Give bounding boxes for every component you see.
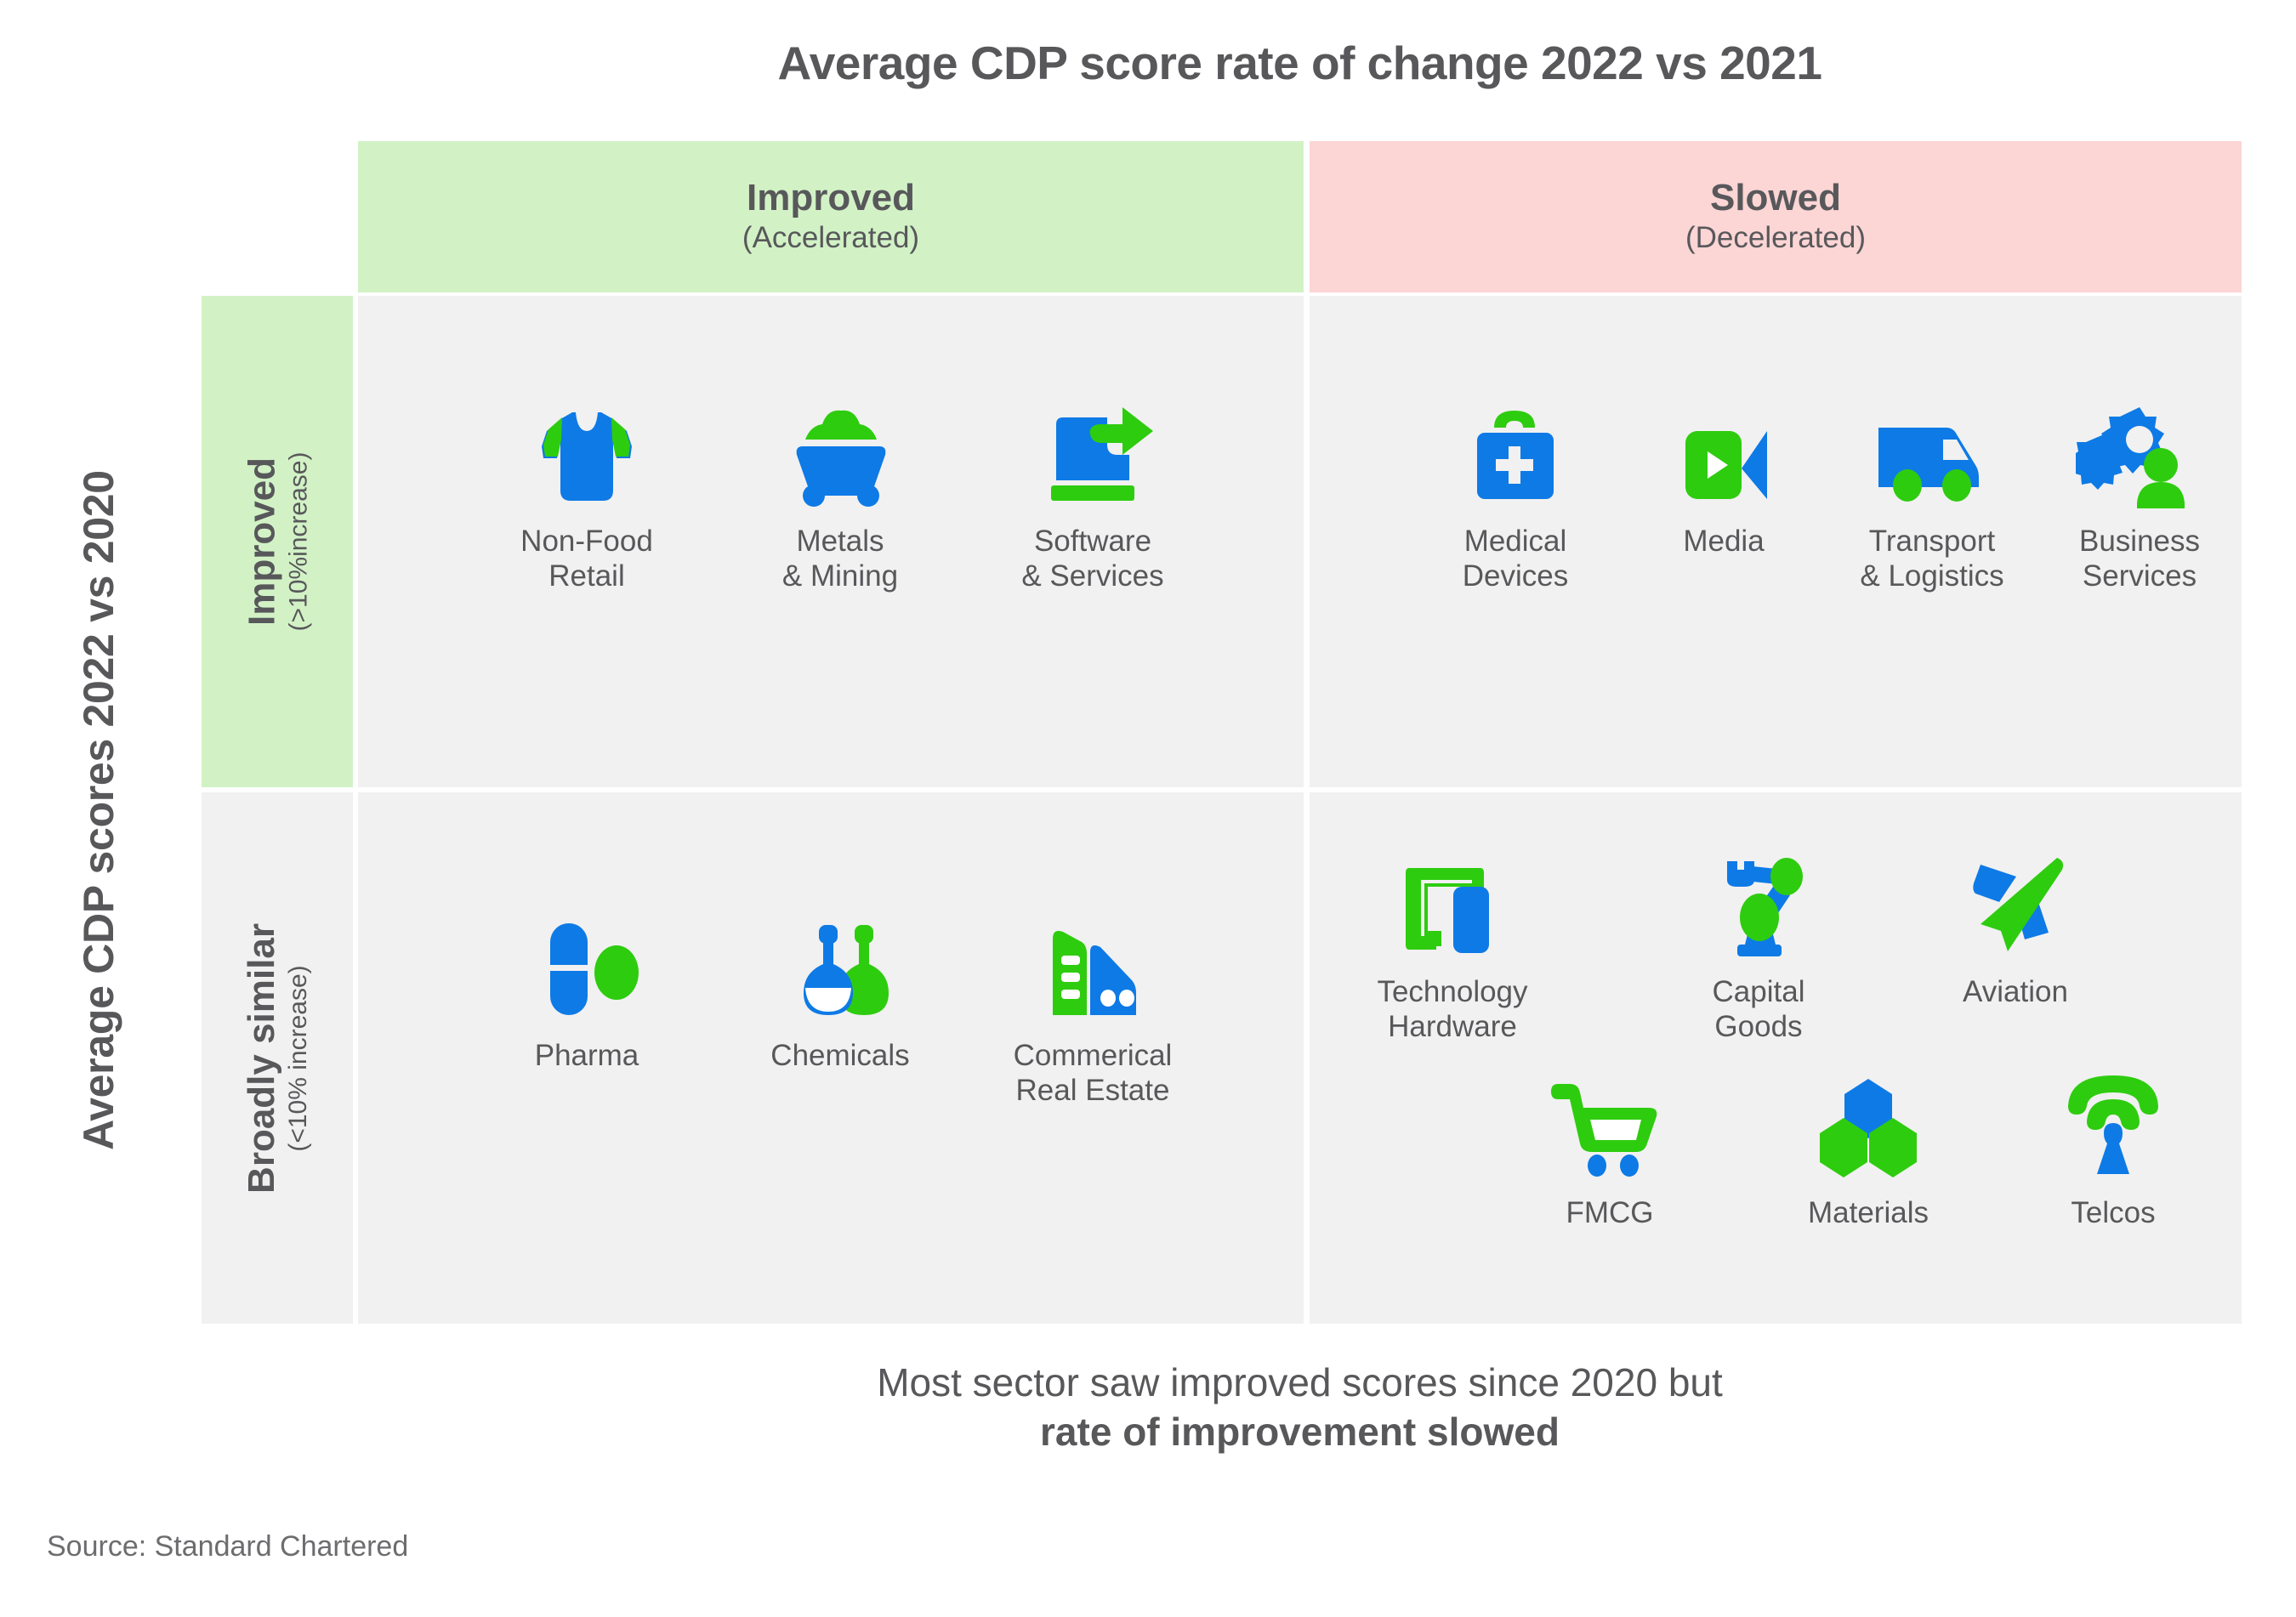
sector-transport-logistics[interactable]: Transport & Logistics	[1834, 400, 2030, 594]
sector-medical-devices[interactable]: Medical Devices	[1418, 400, 1613, 594]
pill-capsule-icon	[523, 914, 651, 1023]
sector-label: Metals & Mining	[782, 524, 898, 594]
sector-label: Software & Services	[1021, 524, 1163, 594]
row-header-improved-sub: (>10%increase)	[286, 452, 311, 632]
sector-label: Pharma	[535, 1038, 639, 1073]
medical-kit-icon	[1452, 400, 1579, 508]
row-header-broadly-similar-sub: (<10% increase)	[286, 923, 311, 1194]
sector-telcos[interactable]: Telcos	[2015, 1071, 2211, 1230]
source-note: Source: Standard Chartered	[47, 1530, 408, 1563]
signal-tower-icon	[2049, 1071, 2177, 1180]
mining-cart-icon	[776, 400, 904, 508]
device-screen-icon	[1389, 850, 1516, 959]
sector-media[interactable]: Media	[1626, 400, 1821, 559]
row-header-broadly-similar-main: Broadly similar	[243, 923, 281, 1194]
row-header-broadly-similar: Broadly similar (<10% increase)	[202, 792, 353, 1324]
gears-person-icon	[2076, 400, 2203, 508]
tshirt-icon	[523, 400, 651, 508]
sector-label: Business Services	[2079, 524, 2200, 594]
column-header-improved-main: Improved	[747, 179, 915, 218]
delivery-truck-icon	[1868, 400, 1996, 508]
office-building-icon	[1029, 914, 1157, 1023]
row-header-improved-main: Improved	[243, 452, 281, 632]
sector-label: Transport & Logistics	[1860, 524, 2003, 594]
sector-business-services[interactable]: Business Services	[2042, 400, 2237, 594]
sector-chemicals[interactable]: Chemicals	[742, 914, 938, 1073]
column-header-improved: Improved (Accelerated)	[358, 141, 1304, 292]
airplane-icon	[1952, 850, 2079, 959]
sector-capital-goods[interactable]: Capital Goods	[1661, 850, 1856, 1045]
y-axis-title: Average CDP scores 2022 vs 2020	[0, 296, 197, 1324]
y-axis-title-text: Average CDP scores 2022 vs 2020	[74, 470, 123, 1150]
sector-label: Capital Goods	[1713, 974, 1805, 1045]
flask-icon	[776, 914, 904, 1023]
shopping-cart-icon	[1546, 1071, 1674, 1180]
sector-label: Telcos	[2071, 1195, 2155, 1230]
sector-non-food-retail[interactable]: Non-Food Retail	[489, 400, 685, 594]
sector-label: Commerical Real Estate	[1014, 1038, 1173, 1109]
sector-label: Materials	[1808, 1195, 1929, 1230]
sector-technology-hardware[interactable]: Technology Hardware	[1355, 850, 1550, 1045]
sector-pharma[interactable]: Pharma	[489, 914, 685, 1073]
sector-label: Technology Hardware	[1377, 974, 1527, 1045]
sector-software-services[interactable]: Software & Services	[995, 400, 1191, 594]
sector-fmcg[interactable]: FMCG	[1512, 1071, 1708, 1230]
software-arrow-icon	[1029, 400, 1157, 508]
footer-line-2: rate of improvement slowed	[358, 1408, 2242, 1457]
video-play-icon	[1660, 400, 1787, 508]
sector-aviation[interactable]: Aviation	[1918, 850, 2113, 1009]
column-header-slowed-sub: (Decelerated)	[1685, 221, 1866, 255]
column-header-slowed-main: Slowed	[1710, 179, 1841, 218]
sector-label: FMCG	[1566, 1195, 1653, 1230]
footer-annotation: Most sector saw improved scores since 20…	[358, 1359, 2242, 1456]
hexagons-icon	[1804, 1071, 1932, 1180]
column-header-slowed: Slowed (Decelerated)	[1310, 141, 2242, 292]
sector-label: Chemicals	[770, 1038, 909, 1073]
sector-commerical-real-estate[interactable]: Commerical Real Estate	[995, 914, 1191, 1109]
sector-label: Non-Food Retail	[520, 524, 653, 594]
footer-line-1: Most sector saw improved scores since 20…	[358, 1359, 2242, 1408]
robot-arm-icon	[1695, 850, 1822, 959]
column-header-improved-sub: (Accelerated)	[742, 221, 919, 255]
sector-label: Medical Devices	[1463, 524, 1568, 594]
sector-label: Media	[1683, 524, 1764, 559]
sector-metals-mining[interactable]: Metals & Mining	[742, 400, 938, 594]
sector-label: Aviation	[1963, 974, 2068, 1009]
page-title: Average CDP score rate of change 2022 vs…	[358, 36, 2242, 90]
row-header-improved: Improved (>10%increase)	[202, 296, 353, 787]
infographic-page: Average CDP score rate of change 2022 vs…	[0, 0, 2296, 1617]
sector-materials[interactable]: Materials	[1770, 1071, 1966, 1230]
